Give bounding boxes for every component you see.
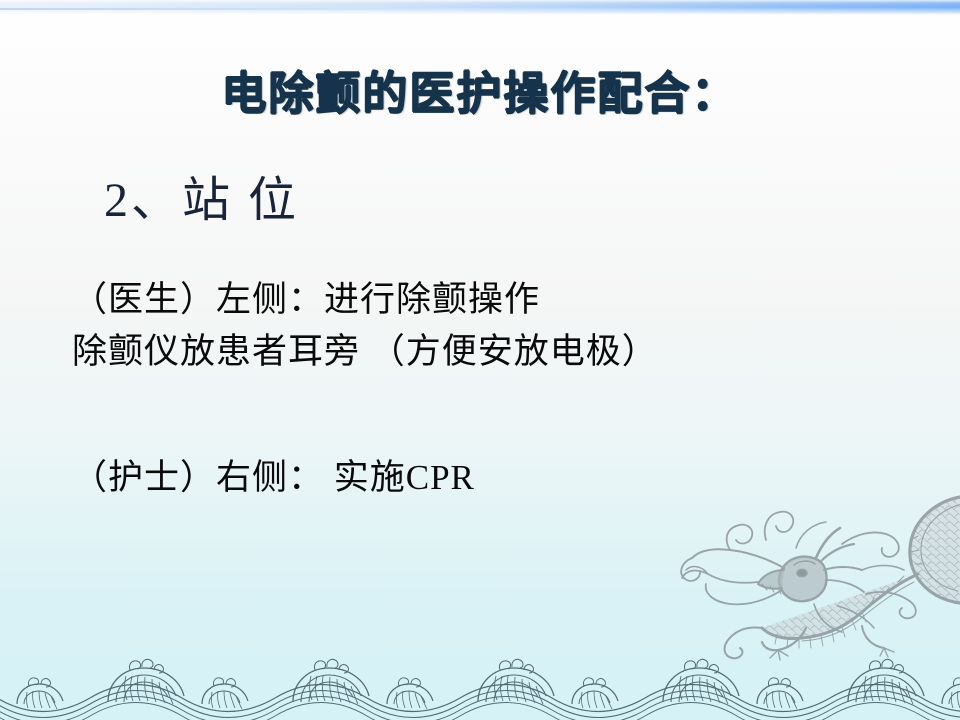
body-line-defibrillator-placement: 除颤仪放患者耳旁 （方便安放电极） [72, 326, 902, 378]
body-line-doctor: （医生）左侧：进行除颤操作 [72, 274, 902, 326]
top-band-highlight-line [0, 8, 470, 10]
body-line-nurse: （护士）右侧： 实施CPR [72, 452, 902, 504]
top-gradient-band [0, 0, 960, 15]
chinese-wave-pattern [0, 646, 960, 720]
presentation-slide: 电除颤的医护操作配合： 2、站 位 （医生）左侧：进行除颤操作 除颤仪放患者耳旁… [0, 0, 960, 720]
slide-body: （医生）左侧：进行除颤操作 除颤仪放患者耳旁 （方便安放电极） （护士）右侧： … [72, 274, 902, 504]
slide-title: 电除颤的医护操作配合： [0, 57, 960, 122]
slide-subtitle: 2、站 位 [104, 160, 299, 230]
